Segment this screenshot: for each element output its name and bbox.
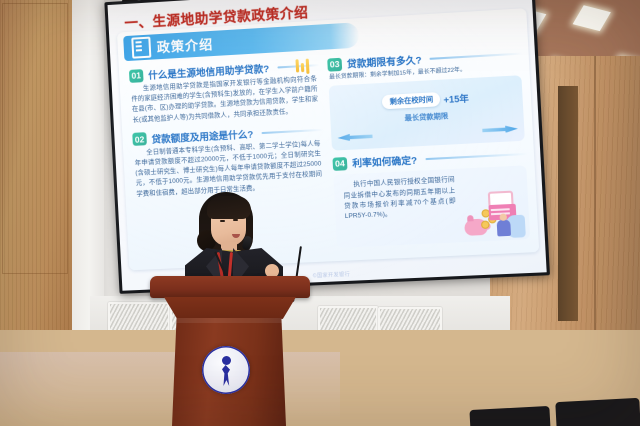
underline-rule — [425, 153, 527, 160]
arrow-left-icon — [337, 133, 372, 142]
projection-screen: 一、生源地助学贷款政策介绍 政策介绍 01 什么是生源地信用助学贷款? — [104, 0, 550, 294]
slide-header-label: 政策介绍 — [156, 34, 213, 56]
audience-seat-back — [555, 398, 640, 426]
eye — [233, 219, 238, 221]
lectern-neck — [164, 297, 296, 319]
hair-front — [207, 196, 251, 219]
piggy-bank-coins-icon — [461, 190, 526, 240]
ceiling-light-panel — [573, 5, 611, 31]
item-question: 贷款期限有多久? — [347, 52, 422, 70]
item-number-badge: 04 — [332, 157, 347, 171]
lectern — [150, 276, 310, 426]
item-number-badge: 02 — [132, 132, 147, 146]
slide-column-right: 03 贷款期限有多久? 最长贷款期限：剩余学制加15年，最长不超过22年。 剩余… — [325, 43, 533, 255]
university-emblem — [202, 346, 250, 394]
item-question: 利率如何确定? — [352, 153, 418, 171]
diagram-pill-label: 剩余在校时间 — [382, 92, 441, 109]
item-body-01: 生源地信用助学贷款是指国家开发银行等金融机构向符合条件的家庭经济困难的学生(含预… — [128, 74, 322, 126]
loan-term-diagram: 剩余在校时间 +15年 最长贷款期限 — [329, 76, 525, 151]
diagram-plus-label: +15年 — [443, 91, 469, 106]
underline-rule — [430, 53, 523, 60]
item-number-badge: 03 — [327, 57, 342, 71]
lectern-trim — [172, 318, 286, 323]
slide: 一、生源地助学贷款政策介绍 政策介绍 01 什么是生源地信用助学贷款? — [108, 0, 547, 291]
item-number-badge: 01 — [129, 69, 144, 83]
audience-seat-back — [469, 406, 550, 426]
lectern-top — [150, 276, 310, 298]
underline-rule — [261, 129, 322, 134]
item-body-04: 执行中国人民银行授权全国银行间同业拆借中心发布的同期五年期以上贷款市场报价利率减… — [340, 175, 460, 222]
slider-decoration-icon — [295, 59, 309, 75]
document-icon — [131, 37, 151, 59]
person-icon — [497, 220, 511, 237]
wall-corner-recess — [558, 86, 578, 321]
interest-rate-box: 执行中国人民银行授权全国银行间同业拆借中心发布的同期五年期以上贷款市场报价利率减… — [333, 166, 530, 249]
wall-seam — [594, 56, 596, 356]
arrow-right-icon — [482, 125, 518, 134]
screen-surface: 一、生源地助学贷款政策介绍 政策介绍 01 什么是生源地信用助学贷款? — [108, 0, 547, 291]
presentation-photo: 一、生源地助学贷款政策介绍 政策介绍 01 什么是生源地信用助学贷款? — [0, 0, 640, 426]
left-wood-wall-panel — [0, 0, 72, 336]
eye — [220, 220, 225, 222]
